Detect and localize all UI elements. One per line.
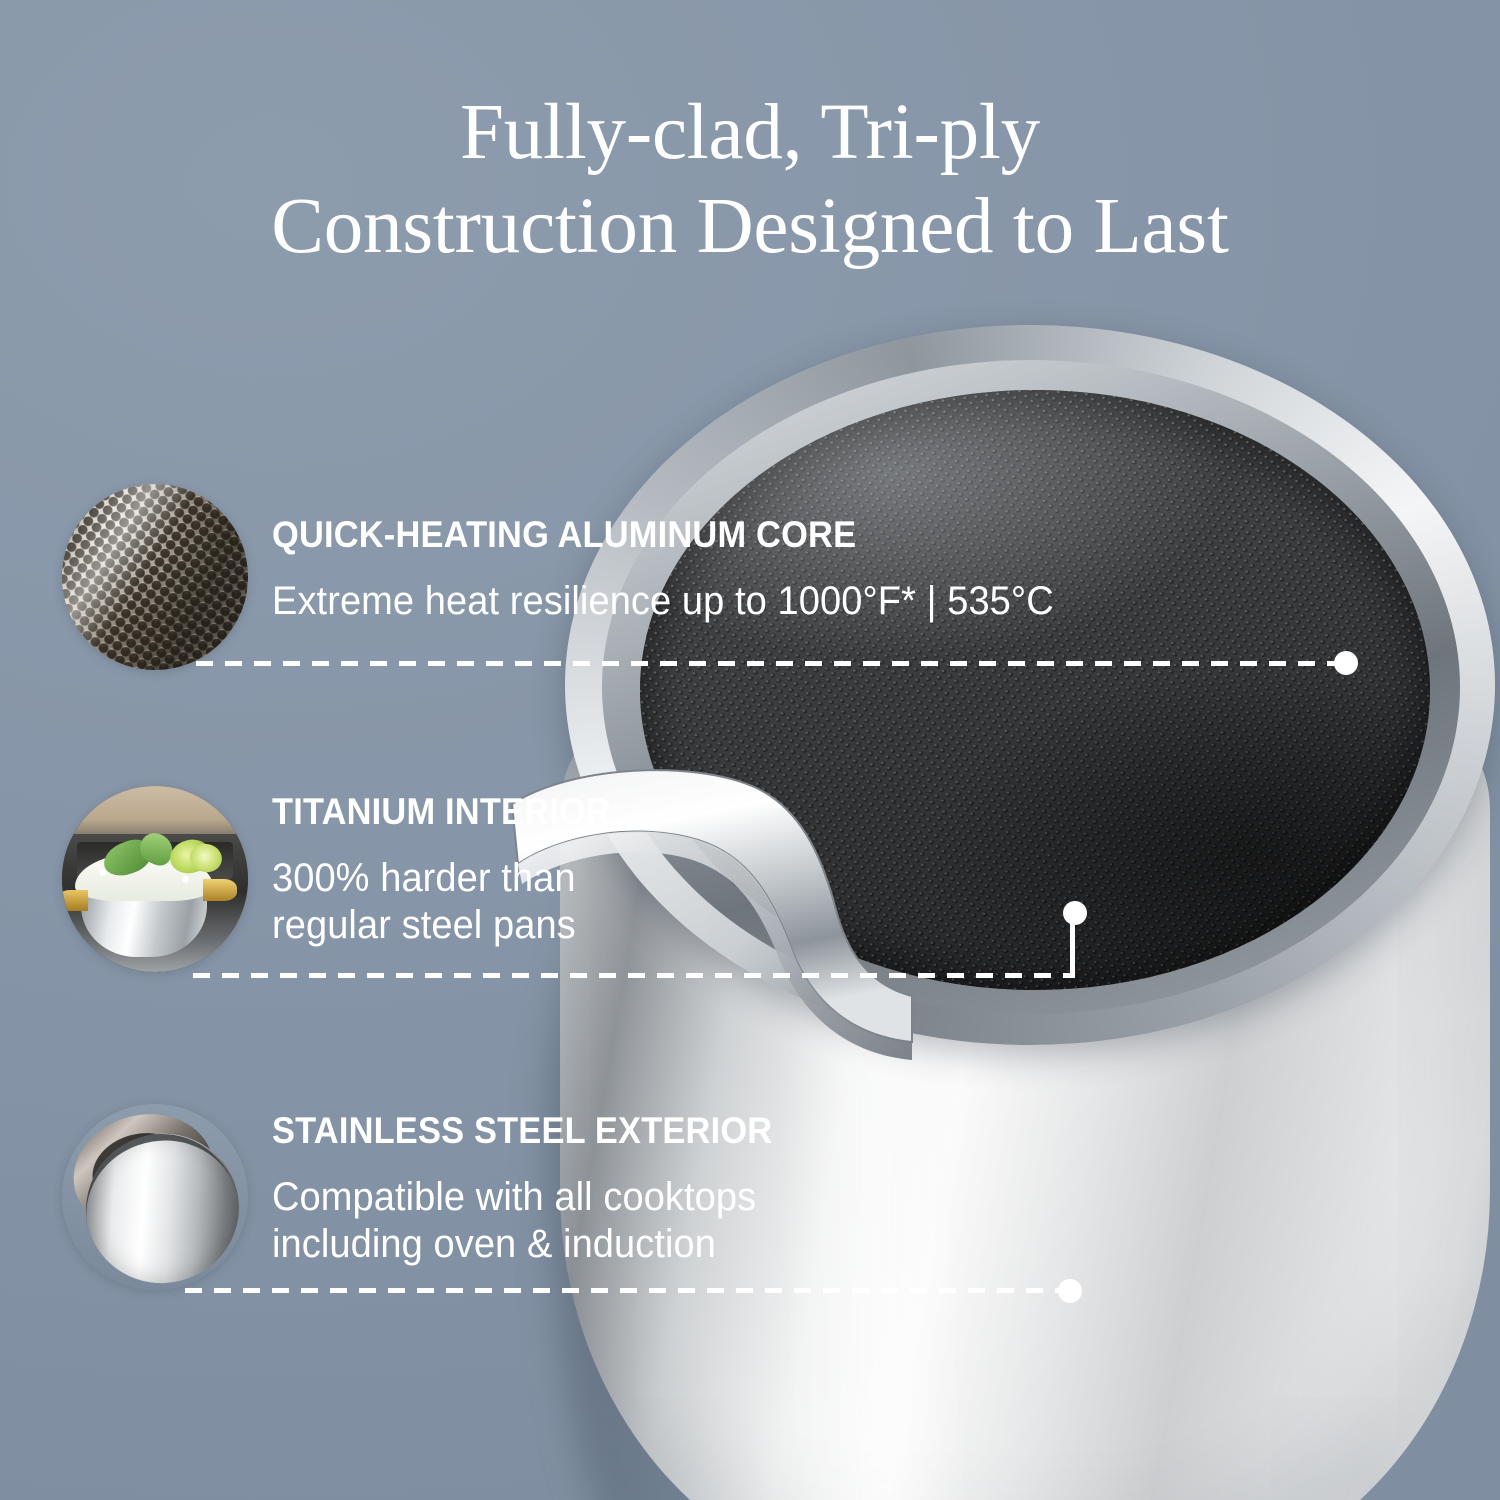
aluminum-core-texture-thumbnail	[62, 484, 248, 670]
leader-endpoint-titanium-interior	[1063, 901, 1087, 925]
feature-body-line: including oven & induction	[272, 1221, 756, 1268]
leader-riser-titanium-interior	[1070, 918, 1075, 976]
polished-steel-base-thumbnail	[62, 1104, 248, 1290]
leader-line-titanium-interior	[193, 973, 1075, 978]
feature-body-line: regular steel pans	[272, 902, 576, 949]
feature-body-line: Extreme heat resilience up to 1000°F* | …	[272, 578, 1054, 625]
leader-line-stainless-exterior	[185, 1288, 1070, 1293]
metal-gloss	[62, 484, 248, 670]
leader-endpoint-stainless-exterior	[1058, 1279, 1082, 1303]
feature-heading-aluminum-core: QUICK-HEATING ALUMINUM CORE	[272, 516, 856, 553]
feature-heading-stainless-exterior: STAINLESS STEEL EXTERIOR	[272, 1112, 772, 1149]
feature-heading-titanium-interior: TITANIUM INTERIOR	[272, 793, 611, 830]
leader-line-aluminum-core	[196, 661, 1348, 666]
feature-body-stainless-exterior: Compatible with all cooktops including o…	[272, 1174, 756, 1268]
rice-pot-on-stove-thumbnail	[62, 786, 248, 972]
product-photo-stockpot	[470, 290, 1500, 1500]
leader-endpoint-aluminum-core	[1334, 651, 1358, 675]
feature-body-line: 300% harder than	[272, 855, 576, 902]
infographic-canvas: Fully-clad, Tri-ply Construction Designe…	[0, 0, 1500, 1500]
pot-handle-left	[62, 890, 88, 910]
feature-body-line: Compatible with all cooktops	[272, 1174, 756, 1221]
feature-body-titanium-interior: 300% harder than regular steel pans	[272, 855, 576, 949]
feature-body-aluminum-core: Extreme heat resilience up to 1000°F* | …	[272, 578, 1054, 625]
pot-handle-right	[203, 879, 236, 901]
